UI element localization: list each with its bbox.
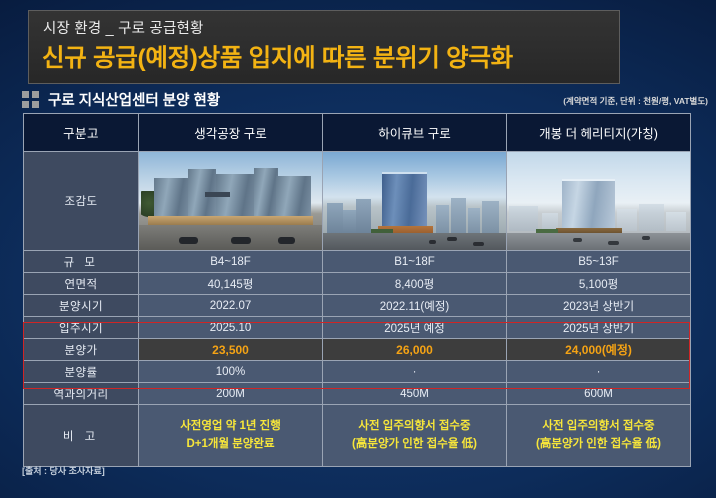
table-row-remarks: 비 고 사전영업 약 1년 진행D+1개월 분양완료 사전 입주의향서 접수중(…	[24, 405, 691, 467]
sale-price-value-1: 23,500	[139, 339, 323, 361]
table-row-station-distance: 역과의거리 200M 450M 600M	[24, 383, 691, 405]
total-floor-area-value-2: 8,400평	[323, 273, 507, 295]
building-render-saenggak-factory-guro	[139, 152, 322, 250]
table-header-row: 구분고 생각공장 구로 하이큐브 구로 개봉 더 헤리티지(가칭)	[24, 114, 691, 152]
station-distance-value-3: 600M	[507, 383, 691, 405]
row-label-sale-rate: 분양률	[24, 361, 139, 383]
scale-value-1: B4~18F	[139, 251, 323, 273]
table-row-total-floor-area: 연면적 40,145평 8,400평 5,100평	[24, 273, 691, 295]
source-note: [출처 : 당사 조사자료]	[22, 464, 105, 477]
section-title: 구로 지식산업센터 분양 현황	[48, 89, 220, 110]
table-row-rendering: 조감도	[24, 152, 691, 251]
row-label-sale-period: 분양시기	[24, 295, 139, 317]
slide-kicker: 시장 환경 _ 구로 공급현황	[43, 17, 204, 38]
sale-period-value-3: 2023년 상반기	[507, 295, 691, 317]
table-header-col-3: 개봉 더 헤리티지(가칭)	[507, 114, 691, 152]
row-label-remarks: 비 고	[24, 405, 139, 467]
remarks-value-3: 사전 입주의향서 접수중(高분양가 인한 접수율 低)	[507, 405, 691, 467]
table-row-scale: 규 모 B4~18F B1~18F B5~13F	[24, 251, 691, 273]
table-header-col-1: 생각공장 구로	[139, 114, 323, 152]
slide-headline: 신규 공급(예정)상품 입지에 따른 분위기 양극화	[42, 39, 513, 74]
table-row-sale-price: 분양가 23,500 26,000 24,000(예정)	[24, 339, 691, 361]
table-row-move-in-period: 입주시기 2025.10 2025년 예정 2025년 상반기	[24, 317, 691, 339]
slide-title-block: 시장 환경 _ 구로 공급현황 신규 공급(예정)상품 입지에 따른 분위기 양…	[28, 10, 620, 84]
rendering-cell-2	[323, 152, 507, 251]
comparison-table-wrapper: 구분고 생각공장 구로 하이큐브 구로 개봉 더 헤리티지(가칭) 조감도	[23, 113, 690, 458]
row-label-move-in-period: 입주시기	[24, 317, 139, 339]
building-render-hicube-guro	[323, 152, 506, 250]
row-label-rendering: 조감도	[24, 152, 139, 251]
sale-period-value-1: 2022.07	[139, 295, 323, 317]
table-header-category: 구분고	[24, 114, 139, 152]
total-floor-area-value-3: 5,100평	[507, 273, 691, 295]
scale-value-2: B1~18F	[323, 251, 507, 273]
section-header: 구로 지식산업센터 분양 현황	[22, 88, 220, 110]
sale-price-value-2: 26,000	[323, 339, 507, 361]
remarks-value-1: 사전영업 약 1년 진행D+1개월 분양완료	[139, 405, 323, 467]
row-label-sale-price: 분양가	[24, 339, 139, 361]
sale-period-value-2: 2022.11(예정)	[323, 295, 507, 317]
move-in-period-value-2: 2025년 예정	[323, 317, 507, 339]
station-distance-value-2: 450M	[323, 383, 507, 405]
row-label-scale: 규 모	[24, 251, 139, 273]
sale-rate-value-2: ·	[323, 361, 507, 383]
grid-four-squares-icon	[22, 91, 39, 108]
row-label-station-distance: 역과의거리	[24, 383, 139, 405]
station-distance-value-1: 200M	[139, 383, 323, 405]
total-floor-area-value-1: 40,145평	[139, 273, 323, 295]
sale-rate-value-1: 100%	[139, 361, 323, 383]
row-label-total-floor-area: 연면적	[24, 273, 139, 295]
comparison-table: 구분고 생각공장 구로 하이큐브 구로 개봉 더 헤리티지(가칭) 조감도	[23, 113, 691, 467]
sale-price-value-3: 24,000(예정)	[507, 339, 691, 361]
building-render-gaebong-the-heritage	[507, 152, 690, 250]
table-header-col-2: 하이큐브 구로	[323, 114, 507, 152]
sale-rate-value-3: ·	[507, 361, 691, 383]
scale-value-3: B5~13F	[507, 251, 691, 273]
rendering-cell-1	[139, 152, 323, 251]
rendering-cell-3	[507, 152, 691, 251]
remarks-value-2: 사전 입주의향서 접수중(高분양가 인한 접수율 低)	[323, 405, 507, 467]
move-in-period-value-3: 2025년 상반기	[507, 317, 691, 339]
unit-note: (계약면적 기준, 단위 : 천원/평, VAT별도)	[563, 95, 708, 107]
move-in-period-value-1: 2025.10	[139, 317, 323, 339]
table-row-sale-period: 분양시기 2022.07 2022.11(예정) 2023년 상반기	[24, 295, 691, 317]
table-row-sale-rate: 분양률 100% · ·	[24, 361, 691, 383]
